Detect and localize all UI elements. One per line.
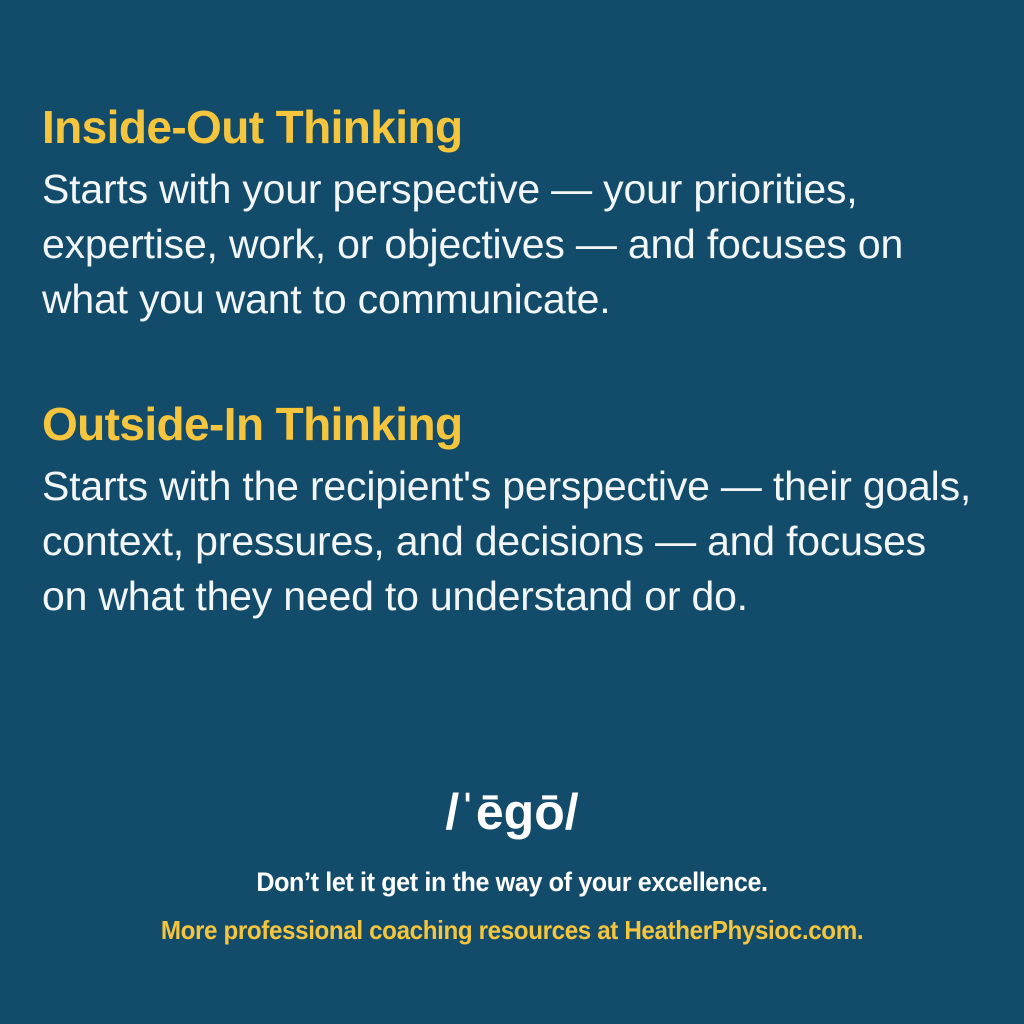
footer-tagline: Don’t let it get in the way of your exce… <box>75 866 949 898</box>
concept-block-inside-out: Inside-Out Thinking Starts with your per… <box>42 104 982 327</box>
concept-block-outside-in: Outside-In Thinking Starts with the reci… <box>42 401 982 624</box>
concept-heading-inside-out: Inside-Out Thinking <box>42 104 982 150</box>
quote-card: Inside-Out Thinking Starts with your per… <box>0 0 1024 1024</box>
card-footer: /ˈēgō/ Don’t let it get in the way of yo… <box>42 786 982 946</box>
phonetic-ego: /ˈēgō/ <box>42 786 982 839</box>
concept-heading-outside-in: Outside-In Thinking <box>42 401 982 447</box>
footer-resources-link[interactable]: More professional coaching resources at … <box>75 915 949 946</box>
concept-body-inside-out: Starts with your perspective — your prio… <box>42 162 982 327</box>
concepts-section: Inside-Out Thinking Starts with your per… <box>42 0 982 624</box>
concept-body-outside-in: Starts with the recipient's perspective … <box>42 459 982 624</box>
